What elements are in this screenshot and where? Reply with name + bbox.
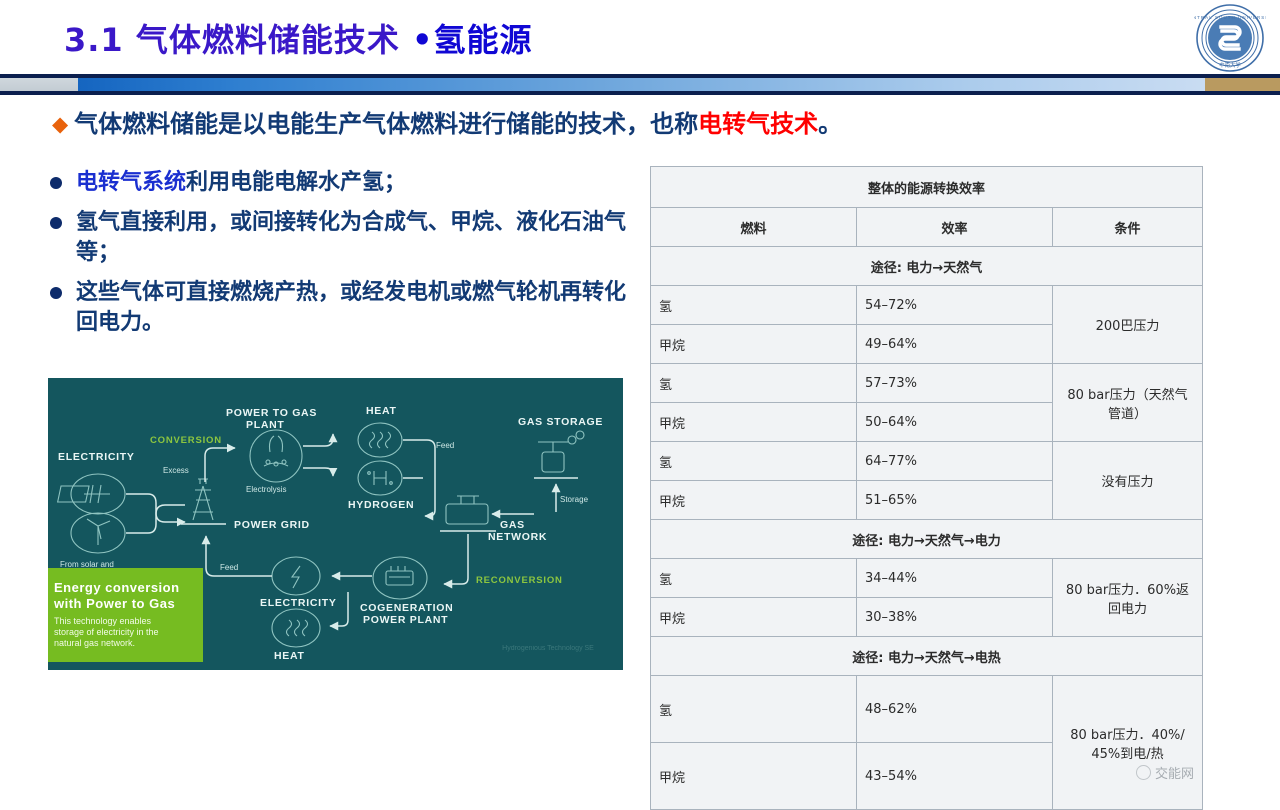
efficiency-table-container: 整体的能源转换效率 燃料 效率 条件 途径: 电力→天然气 氢 54–72% 2…	[650, 166, 1202, 810]
cell-efficiency: 64–77%	[857, 442, 1053, 481]
cell-efficiency: 54–72%	[857, 286, 1053, 325]
university-logo-icon: CENTRAL SOUTH UNIVERSITY 中南大学	[1194, 3, 1266, 75]
column-header-condition: 条件	[1053, 208, 1203, 247]
svg-text:PLANT: PLANT	[246, 419, 285, 431]
svg-text:NETWORK: NETWORK	[488, 531, 547, 543]
svg-text:ELECTRICITY: ELECTRICITY	[58, 451, 135, 463]
column-header-efficiency: 效率	[857, 208, 1053, 247]
cell-fuel: 甲烷	[651, 325, 857, 364]
table-header-row: 燃料 效率 条件	[651, 208, 1203, 247]
lead-statement-highlight: 电转气技术	[698, 110, 818, 138]
svg-text:Excess: Excess	[163, 466, 189, 475]
bullet-item-1-rest: 利用电能电解水产氢；	[186, 170, 406, 195]
svg-text:Feed: Feed	[220, 563, 238, 572]
cell-condition: 80 bar压力（天然气管道）	[1053, 364, 1203, 442]
bullet-dot-icon	[50, 217, 62, 229]
cell-fuel: 甲烷	[651, 481, 857, 520]
svg-text:Feed: Feed	[436, 441, 454, 450]
page-title-main: 3.1 气体燃料储能技术	[64, 21, 400, 59]
cell-fuel: 氢	[651, 286, 857, 325]
page-title-sub: •氢能源	[412, 21, 532, 59]
svg-text:with Power to Gas: with Power to Gas	[53, 596, 175, 611]
table-row: 氢 54–72% 200巴压力	[651, 286, 1203, 325]
band-segment-gray	[0, 78, 78, 91]
svg-text:natural gas network.: natural gas network.	[54, 638, 135, 648]
section-path-2: 途径: 电力→天然气→电力	[651, 520, 1203, 559]
header-accent-band	[0, 78, 1280, 91]
cell-efficiency: 43–54%	[857, 743, 1053, 810]
cell-fuel: 甲烷	[651, 743, 857, 810]
table-title: 整体的能源转换效率	[651, 167, 1203, 208]
bullet-dot-icon	[50, 177, 62, 189]
bullet-item-1-highlight: 电转气系统	[76, 170, 186, 195]
band-segment-blue-gradient	[78, 78, 1205, 91]
cell-efficiency: 34–44%	[857, 559, 1053, 598]
svg-text:GAS STORAGE: GAS STORAGE	[518, 416, 603, 428]
bullet-item-1-text: 电转气系统利用电能电解水产氢；	[76, 168, 406, 197]
cell-efficiency: 49–64%	[857, 325, 1053, 364]
bullet-list: 电转气系统利用电能电解水产氢； 氢气直接利用，或间接转化为合成气、甲烷、液化石油…	[50, 168, 635, 348]
cell-fuel: 氢	[651, 364, 857, 403]
band-segment-gold	[1205, 78, 1280, 91]
svg-text:From solar and: From solar and	[60, 560, 114, 569]
lead-statement: ◆气体燃料储能是以电能生产气体燃料进行储能的技术，也称电转气技术。	[52, 110, 842, 139]
diamond-bullet-icon: ◆	[52, 112, 68, 136]
svg-text:Storage: Storage	[560, 495, 589, 504]
svg-text:Electrolysis: Electrolysis	[246, 485, 286, 494]
table-row: 氢 57–73% 80 bar压力（天然气管道）	[651, 364, 1203, 403]
table-row: 氢 64–77% 没有压力	[651, 442, 1203, 481]
bullet-dot-icon	[50, 287, 62, 299]
table-section-header: 途径: 电力→天然气→电热	[651, 637, 1203, 676]
svg-text:RECONVERSION: RECONVERSION	[476, 575, 563, 586]
bullet-item-2: 氢气直接利用，或间接转化为合成气、甲烷、液化石油气等；	[50, 208, 635, 267]
table-title-row: 整体的能源转换效率	[651, 167, 1203, 208]
cell-condition: 200巴压力	[1053, 286, 1203, 364]
power-to-gas-diagram: .ln{fill:none;stroke:#d8ecea;stroke-widt…	[48, 378, 623, 670]
cell-fuel: 氢	[651, 559, 857, 598]
svg-text:Hydrogenious Technology SE: Hydrogenious Technology SE	[502, 645, 594, 652]
table-row: 氢 48–62% 80 bar压力．40%/ 45%到电/热	[651, 676, 1203, 743]
svg-text:HEAT: HEAT	[274, 650, 305, 662]
lead-statement-part2: 。	[818, 110, 842, 138]
column-header-fuel: 燃料	[651, 208, 857, 247]
bullet-item-2-text: 氢气直接利用，或间接转化为合成气、甲烷、液化石油气等；	[76, 208, 635, 267]
energy-conversion-efficiency-table: 整体的能源转换效率 燃料 效率 条件 途径: 电力→天然气 氢 54–72% 2…	[650, 166, 1203, 810]
svg-text:storage of electricity in the: storage of electricity in the	[54, 627, 159, 637]
svg-text:POWER PLANT: POWER PLANT	[363, 614, 448, 626]
svg-text:POWER GRID: POWER GRID	[234, 519, 310, 531]
svg-text:ELECTRICITY: ELECTRICITY	[260, 597, 337, 609]
cell-efficiency: 48–62%	[857, 676, 1053, 743]
svg-text:HYDROGEN: HYDROGEN	[348, 499, 414, 511]
bullet-item-3-text: 这些气体可直接燃烧产热，或经发电机或燃气轮机再转化回电力。	[76, 278, 635, 337]
section-path-3: 途径: 电力→天然气→电热	[651, 637, 1203, 676]
svg-text:POWER TO GAS: POWER TO GAS	[226, 407, 317, 419]
table-row: 氢 34–44% 80 bar压力．60%返回电力	[651, 559, 1203, 598]
svg-text:HEAT: HEAT	[366, 405, 397, 417]
svg-text:CONVERSION: CONVERSION	[150, 435, 222, 446]
cell-efficiency: 51–65%	[857, 481, 1053, 520]
svg-text:CENTRAL SOUTH UNIVERSITY: CENTRAL SOUTH UNIVERSITY	[1194, 15, 1266, 20]
lead-statement-part1: 气体燃料储能是以电能生产气体燃料进行储能的技术，也称	[74, 110, 698, 138]
bullet-item-1: 电转气系统利用电能电解水产氢；	[50, 168, 635, 197]
svg-text:GAS: GAS	[500, 519, 525, 531]
cell-condition: 80 bar压力．40%/ 45%到电/热	[1053, 676, 1203, 810]
header-rule-bottom	[0, 91, 1280, 95]
cell-fuel: 甲烷	[651, 403, 857, 442]
cell-condition: 没有压力	[1053, 442, 1203, 520]
cell-fuel: 甲烷	[651, 598, 857, 637]
svg-text:Energy conversion: Energy conversion	[54, 580, 180, 595]
cell-efficiency: 30–38%	[857, 598, 1053, 637]
svg-text:This technology enables: This technology enables	[54, 616, 152, 626]
svg-text:COGENERATION: COGENERATION	[360, 602, 453, 614]
page-title: 3.1 气体燃料储能技术 •氢能源	[64, 23, 532, 58]
bullet-item-3: 这些气体可直接燃烧产热，或经发电机或燃气轮机再转化回电力。	[50, 278, 635, 337]
cell-efficiency: 50–64%	[857, 403, 1053, 442]
table-section-header: 途径: 电力→天然气	[651, 247, 1203, 286]
slide-header: 3.1 气体燃料储能技术 •氢能源 CENTRAL SOUTH UNIVERSI…	[0, 0, 1280, 96]
table-section-header: 途径: 电力→天然气→电力	[651, 520, 1203, 559]
section-path-1: 途径: 电力→天然气	[651, 247, 1203, 286]
cell-efficiency: 57–73%	[857, 364, 1053, 403]
cell-condition: 80 bar压力．60%返回电力	[1053, 559, 1203, 637]
cell-fuel: 氢	[651, 676, 857, 743]
svg-text:中南大学: 中南大学	[1219, 61, 1241, 69]
cell-fuel: 氢	[651, 442, 857, 481]
